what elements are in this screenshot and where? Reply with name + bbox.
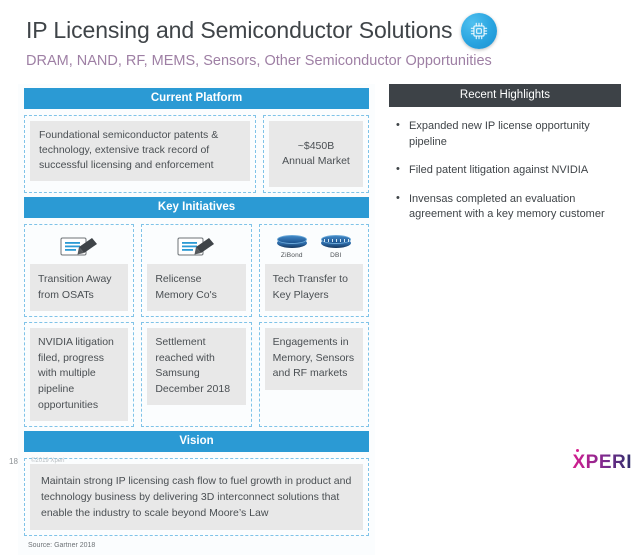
- key-initiative-detail-1: NVIDIA litigation filed, progress with m…: [30, 328, 128, 421]
- key-initiative-column-2: Relicense Memory Co's: [141, 224, 251, 316]
- xperi-logo: XPERI: [572, 452, 632, 474]
- wafer-dbi: DBI: [321, 235, 351, 259]
- key-initiative-column-1: Transition Away from OSATs: [24, 224, 134, 316]
- key-initiative-title-2: Relicense Memory Co's: [147, 264, 245, 310]
- xperi-logo-text: XPERI: [572, 452, 632, 473]
- wafer-zibond: ZiBond: [277, 235, 307, 259]
- source-note: Source: Gartner 2018: [18, 536, 375, 555]
- wafer-bonding-icon: ZiBond DBI: [265, 230, 363, 264]
- left-content-panel: Current Platform Foundational semiconduc…: [18, 84, 375, 555]
- license-signature-icon: [147, 230, 245, 264]
- current-platform-row: Foundational semiconductor patents & tec…: [24, 115, 369, 193]
- copyright-text: ©2019 Xperi: [31, 458, 64, 464]
- key-initiative-detail-cell-2: Settlement reached with Samsung December…: [141, 322, 251, 427]
- current-platform-main-text: Foundational semiconductor patents & tec…: [30, 121, 250, 181]
- wafer-label-zibond: ZiBond: [281, 252, 303, 259]
- wafer-icon: [277, 235, 307, 250]
- slide-header: IP Licensing and Semiconductor Solutions…: [0, 0, 640, 69]
- current-platform-market-cell: ~$450B Annual Market: [263, 115, 369, 193]
- section-header-recent-highlights: Recent Highlights: [389, 84, 621, 107]
- key-initiative-title-1: Transition Away from OSATs: [30, 264, 128, 310]
- wafer-label-dbi: DBI: [330, 252, 341, 259]
- key-initiative-detail-cell-3: Engagements in Memory, Sensors and RF ma…: [259, 322, 369, 427]
- annual-market-value: ~$450B: [273, 139, 359, 154]
- key-initiative-detail-cell-1: NVIDIA litigation filed, progress with m…: [24, 322, 134, 427]
- page-number: 18: [9, 457, 18, 466]
- recent-highlights-panel: Recent Highlights Expanded new IP licens…: [389, 84, 621, 236]
- key-initiative-detail-2: Settlement reached with Samsung December…: [147, 328, 245, 405]
- section-header-key-initiatives: Key Initiatives: [24, 197, 369, 218]
- key-initiatives-row: Transition Away from OSATs Relicense Mem…: [24, 224, 369, 316]
- annual-market-box: ~$450B Annual Market: [269, 121, 363, 187]
- annual-market-label: Annual Market: [273, 154, 359, 169]
- page-subtitle: DRAM, NAND, RF, MEMS, Sensors, Other Sem…: [0, 49, 640, 69]
- license-signature-icon: [30, 230, 128, 264]
- recent-highlights-list: Expanded new IP license opportunity pipe…: [389, 107, 621, 236]
- page-title: IP Licensing and Semiconductor Solutions: [26, 17, 452, 44]
- list-item: Invensas completed an evaluation agreeme…: [389, 192, 621, 236]
- list-item: Filed patent litigation against NVIDIA: [389, 163, 621, 192]
- key-initiative-title-3: Tech Transfer to Key Players: [265, 264, 363, 310]
- key-initiative-column-3: ZiBond DBI Tech Transfer to Key Players: [259, 224, 369, 316]
- slide-footer: 18 ©2019 Xperi XPERI: [0, 450, 640, 476]
- list-item: Expanded new IP license opportunity pipe…: [389, 119, 621, 163]
- wafer-ridged-icon: [321, 235, 351, 250]
- section-header-vision: Vision: [24, 431, 369, 452]
- title-row: IP Licensing and Semiconductor Solutions: [0, 0, 640, 49]
- key-initiatives-detail-row: NVIDIA litigation filed, progress with m…: [24, 322, 369, 427]
- microchip-icon: [461, 13, 497, 49]
- key-initiative-detail-3: Engagements in Memory, Sensors and RF ma…: [265, 328, 363, 390]
- section-header-current-platform: Current Platform: [24, 88, 369, 109]
- current-platform-main-cell: Foundational semiconductor patents & tec…: [24, 115, 256, 193]
